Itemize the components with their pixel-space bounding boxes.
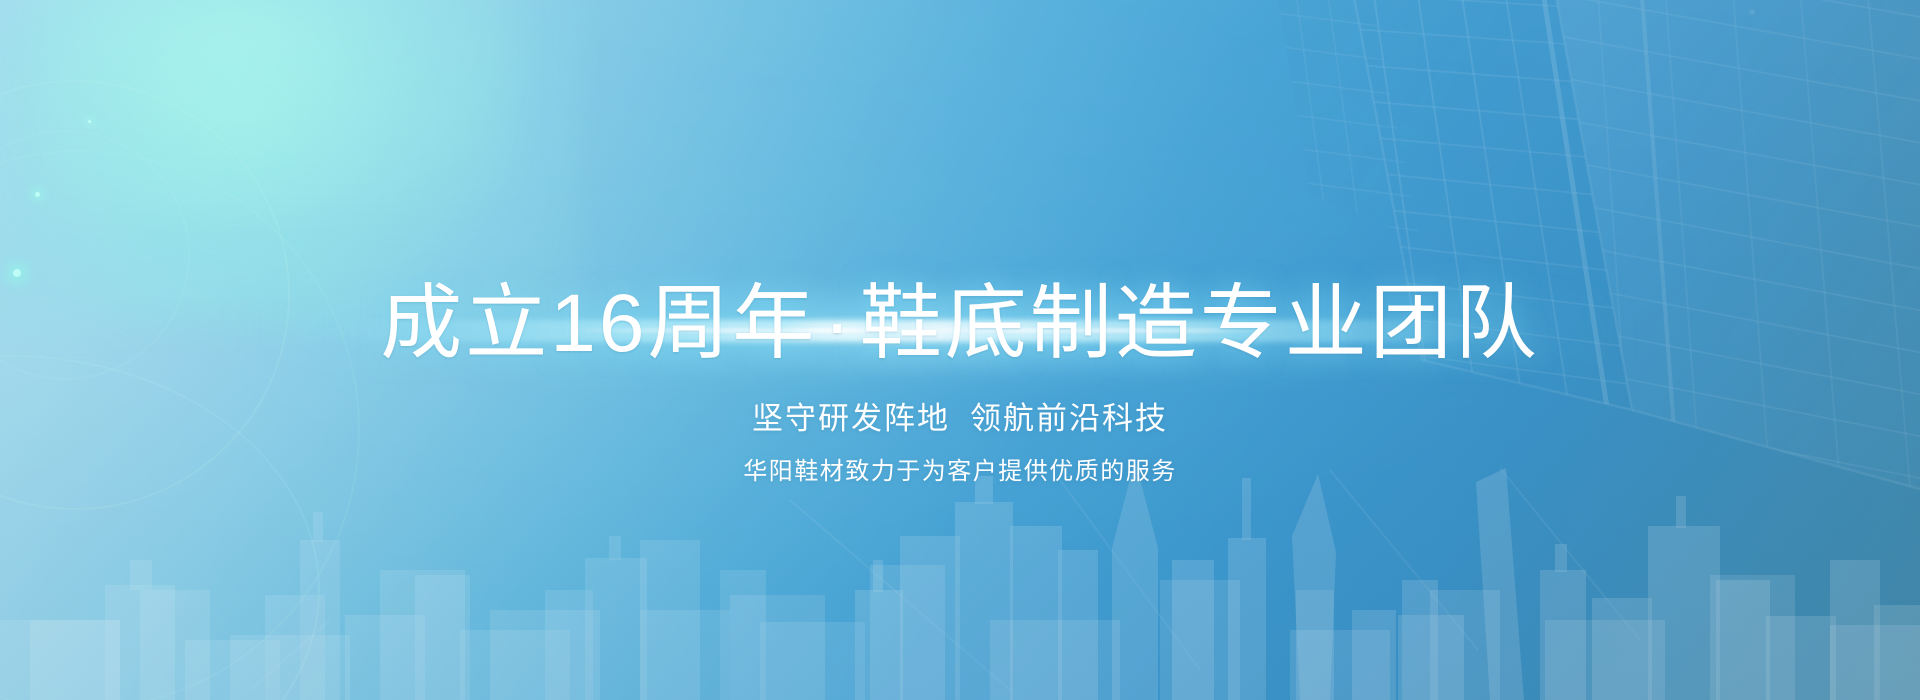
- subline-1-left: 坚守研发阵地: [752, 401, 950, 436]
- banner-subline-1: 坚守研发阵地领航前沿科技: [752, 400, 1168, 437]
- banner-subline-2: 华阳鞋材致力于为客户提供优质的服务: [743, 458, 1177, 487]
- subline-1-right: 领航前沿科技: [970, 401, 1168, 436]
- banner-headline: 成立16周年·鞋底制造专业团队: [380, 282, 1540, 366]
- headline-part-1: 成立16周年: [380, 278, 817, 369]
- headline-part-2: 鞋底制造专业团队: [860, 278, 1540, 369]
- headline-separator-icon: ·: [817, 282, 859, 366]
- banner-content: 成立16周年·鞋底制造专业团队 坚守研发阵地领航前沿科技 华阳鞋材致力于为客户提…: [0, 0, 1920, 700]
- hero-banner: 成立16周年·鞋底制造专业团队 坚守研发阵地领航前沿科技 华阳鞋材致力于为客户提…: [0, 0, 1920, 700]
